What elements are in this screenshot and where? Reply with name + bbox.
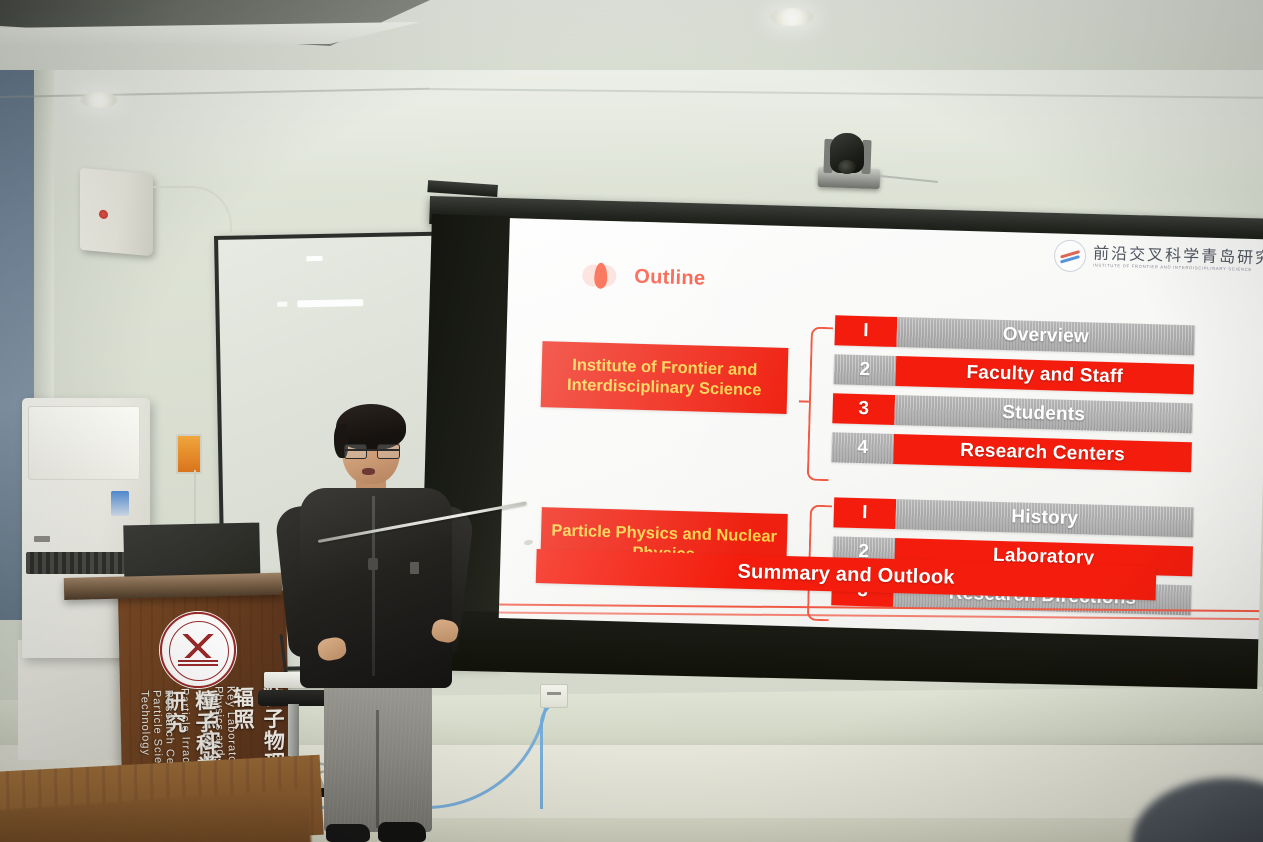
presenter-leg-seam [376,710,379,828]
slide-title: Outline [634,265,706,290]
ceiling-downlight [770,8,814,26]
item-label: Research Centers [893,434,1192,472]
institute-logo: 前沿交叉科学青岛研究 INSTITUTE OF FRONTIER AND INT… [1054,239,1263,277]
wall-control-box[interactable] [176,434,202,474]
presenter-shoe [378,822,426,842]
category-label: Institute of Frontier and Interdisciplin… [541,341,789,414]
glasses-bridge [344,449,400,451]
item-label: Overview [896,317,1195,355]
air-conditioner-panel [28,406,140,480]
list-item[interactable]: 2 Faculty and Staff [833,354,1194,394]
whiteboard-glare [277,302,287,307]
speaker-led-icon [99,209,108,219]
seal-bars-icon [178,658,218,666]
list-item[interactable]: 3 Students [832,393,1193,433]
leaf-bullet-icon [582,262,621,289]
wave-logo-icon [1054,239,1087,272]
presenter-shoe [326,824,370,842]
item-label: Students [894,395,1193,433]
camera-lens-icon [838,160,856,174]
jacket-zipper-pull [368,558,378,570]
item-number: 3 [832,393,895,425]
item-number: 2 [833,354,896,386]
seal-mountain-icon [176,634,220,660]
air-conditioner-logo [34,536,50,542]
curly-brace-icon [807,327,833,482]
presenter-mouth [362,468,375,475]
item-label: History [895,499,1194,537]
presentation-slide: 前沿交叉科学青岛研究 INSTITUTE OF FRONTIER AND INT… [499,218,1263,639]
list-item[interactable]: I History [833,497,1194,537]
projection-screen: 前沿交叉科学青岛研究 INSTITUTE OF FRONTIER AND INT… [499,218,1263,639]
item-number: I [834,315,897,347]
wall-socket[interactable] [540,684,568,708]
ceiling-downlight [80,92,118,108]
lecture-hall-photo: 前沿交叉科学青岛研究 INSTITUTE OF FRONTIER AND INT… [0,0,1263,842]
ethernet-cable [540,700,563,809]
whiteboard-glare [297,299,363,307]
bullet-leaf-shape [594,263,608,289]
institute-logo-text: 前沿交叉科学青岛研究 INSTITUTE OF FRONTIER AND INT… [1093,245,1263,272]
energy-label-sticker [111,491,129,516]
item-label: Faculty and Staff [895,356,1194,394]
university-seal-icon [160,612,236,688]
jacket-zipper [372,496,375,676]
wall-speaker [80,168,153,256]
jacket-logo [410,562,419,574]
item-number: I [833,497,896,529]
slide-header: Outline [582,262,706,291]
whiteboard-glare [306,256,322,261]
list-item[interactable]: 4 Research Centers [831,432,1192,472]
list-item[interactable]: I Overview [834,315,1195,355]
item-number: 4 [831,432,894,464]
curly-brace-nib-icon [799,400,809,402]
summary-label: Summary and Outlook [737,560,955,589]
projection-screen-assembly: 前沿交叉科学青岛研究 INSTITUTE OF FRONTIER AND INT… [420,214,1263,677]
outline-item-list: I Overview 2 Faculty and Staff 3 Student… [831,315,1195,481]
